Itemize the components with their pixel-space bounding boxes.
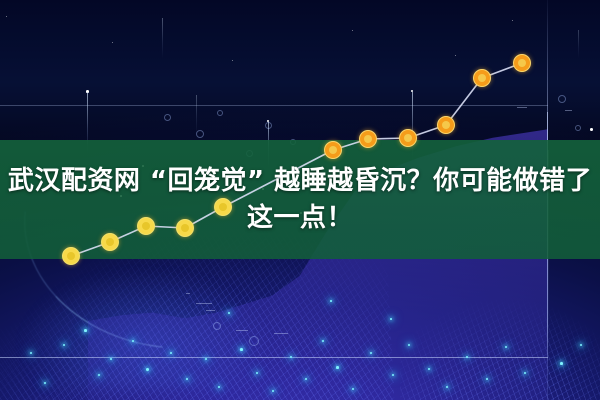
- chart-data-point: [437, 116, 455, 134]
- page-title: 武汉配资网 “回笼觉” 越睡越昏沉？你可能做错了 这一点！: [0, 140, 600, 259]
- chart-data-point: [473, 69, 491, 87]
- promo-banner-image: 武汉配资网 “回笼觉” 越睡越昏沉？你可能做错了 这一点！: [0, 0, 600, 400]
- chart-data-point-core: [518, 59, 526, 67]
- chart-data-point-core: [442, 121, 450, 129]
- chart-data-point-core: [478, 74, 486, 82]
- chart-data-point: [513, 54, 531, 72]
